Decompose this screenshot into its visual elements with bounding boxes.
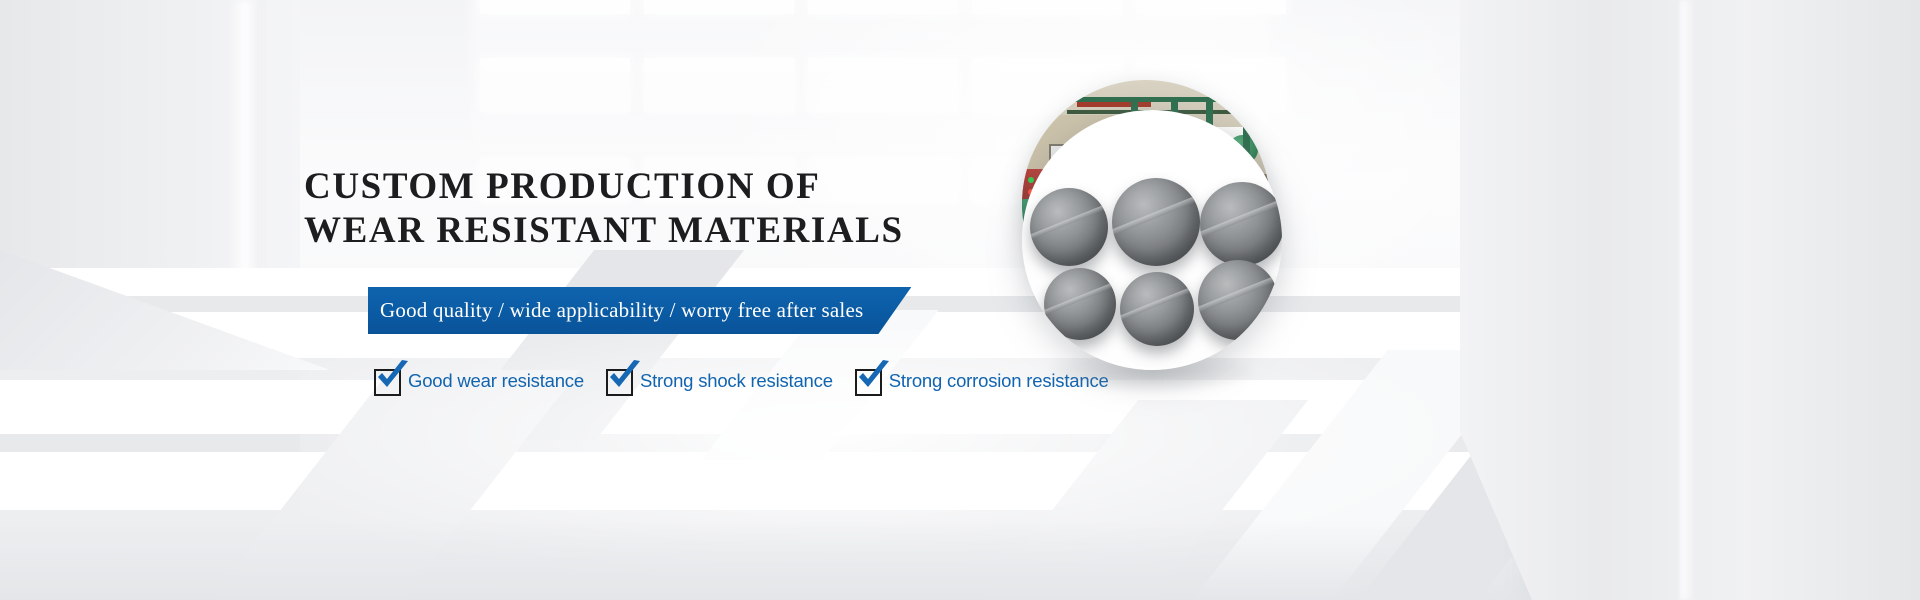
checkmark-icon	[607, 360, 643, 394]
feature-item[interactable]: Strong shock resistance	[606, 366, 833, 396]
tagline-ribbon: Good quality / wide applicability / worr…	[368, 287, 911, 334]
steel-ball	[1044, 268, 1116, 340]
hero-banner: CUSTOM PRODUCTION OF WEAR RESISTANT MATE…	[0, 0, 1920, 600]
checkmark-icon	[856, 360, 892, 394]
checkbox-checked-icon[interactable]	[374, 369, 401, 396]
feature-label: Strong shock resistance	[640, 370, 833, 392]
steel-ball	[1030, 188, 1108, 266]
headline-line-1: CUSTOM PRODUCTION OF	[304, 166, 820, 207]
tagline-text: Good quality / wide applicability / worr…	[380, 298, 863, 323]
page-title: CUSTOM PRODUCTION OF WEAR RESISTANT MATE…	[304, 165, 1064, 253]
checkbox-checked-icon[interactable]	[606, 369, 633, 396]
feature-item[interactable]: Good wear resistance	[374, 366, 584, 396]
steel-ball	[1112, 178, 1200, 266]
steel-ball	[1120, 272, 1194, 346]
grinding-steel-balls-photo	[1022, 110, 1282, 370]
feature-label: Good wear resistance	[408, 370, 584, 392]
checkmark-icon	[375, 360, 411, 394]
headline-line-2: WEAR RESISTANT MATERIALS	[304, 209, 1064, 253]
ball-seam-line	[1112, 178, 1200, 266]
ball-seam-line	[1044, 268, 1116, 340]
feature-list: Good wear resistance Strong shock resist…	[374, 366, 1109, 396]
checkbox-checked-icon[interactable]	[855, 369, 882, 396]
ball-seam-line	[1120, 272, 1194, 346]
ball-seam-line	[1198, 260, 1278, 340]
steel-ball	[1200, 182, 1282, 266]
banner-content: CUSTOM PRODUCTION OF WEAR RESISTANT MATE…	[0, 0, 1920, 600]
ball-seam-line	[1030, 188, 1108, 266]
steel-ball	[1198, 260, 1278, 340]
ball-seam-line	[1200, 182, 1282, 266]
